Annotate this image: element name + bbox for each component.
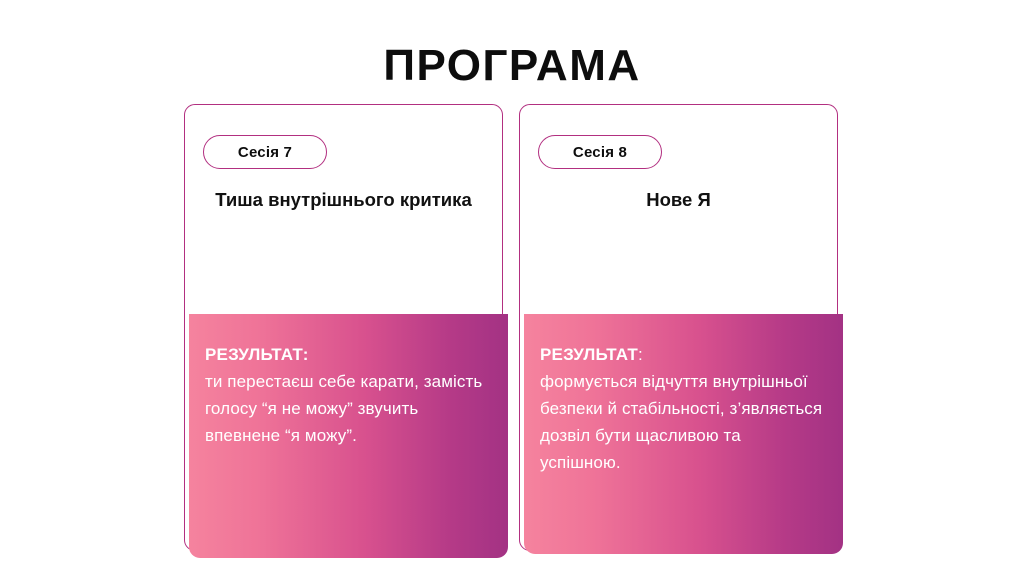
page-title: ПРОГРАМА xyxy=(0,40,1024,92)
program-card-session-8: Сесія 8 Нове Я РЕЗУЛЬТАТ: формується від… xyxy=(519,104,838,551)
session-badge-label: Сесія 8 xyxy=(573,144,627,161)
session-title: Нове Я xyxy=(536,185,821,215)
result-heading-text: РЕЗУЛЬТАТ xyxy=(540,345,638,364)
result-heading: РЕЗУЛЬТАТ: xyxy=(540,342,823,368)
result-block: РЕЗУЛЬТАТ: формується відчуття внутрішнь… xyxy=(524,314,843,554)
session-title: Тиша внутрішнього критика xyxy=(201,185,486,215)
result-heading-text: РЕЗУЛЬТАТ xyxy=(205,345,303,364)
session-badge-7: Сесія 7 xyxy=(203,135,327,169)
result-heading-colon: : xyxy=(638,345,643,364)
result-heading: РЕЗУЛЬТАТ: xyxy=(205,342,488,368)
session-badge-8: Сесія 8 xyxy=(538,135,662,169)
slide-canvas: ПРОГРАМА Сесія 7 Тиша внутрішнього крити… xyxy=(0,0,1024,576)
result-block: РЕЗУЛЬТАТ: ти перестаєш себе карати, зам… xyxy=(189,314,508,558)
result-heading-colon: : xyxy=(303,345,309,364)
session-badge-label: Сесія 7 xyxy=(238,144,292,161)
program-card-session-7: Сесія 7 Тиша внутрішнього критика РЕЗУЛЬ… xyxy=(184,104,503,551)
result-text: ти перестаєш себе карати, замість голосу… xyxy=(205,368,488,449)
result-text: формується відчуття внутрішньої безпеки … xyxy=(540,368,823,476)
